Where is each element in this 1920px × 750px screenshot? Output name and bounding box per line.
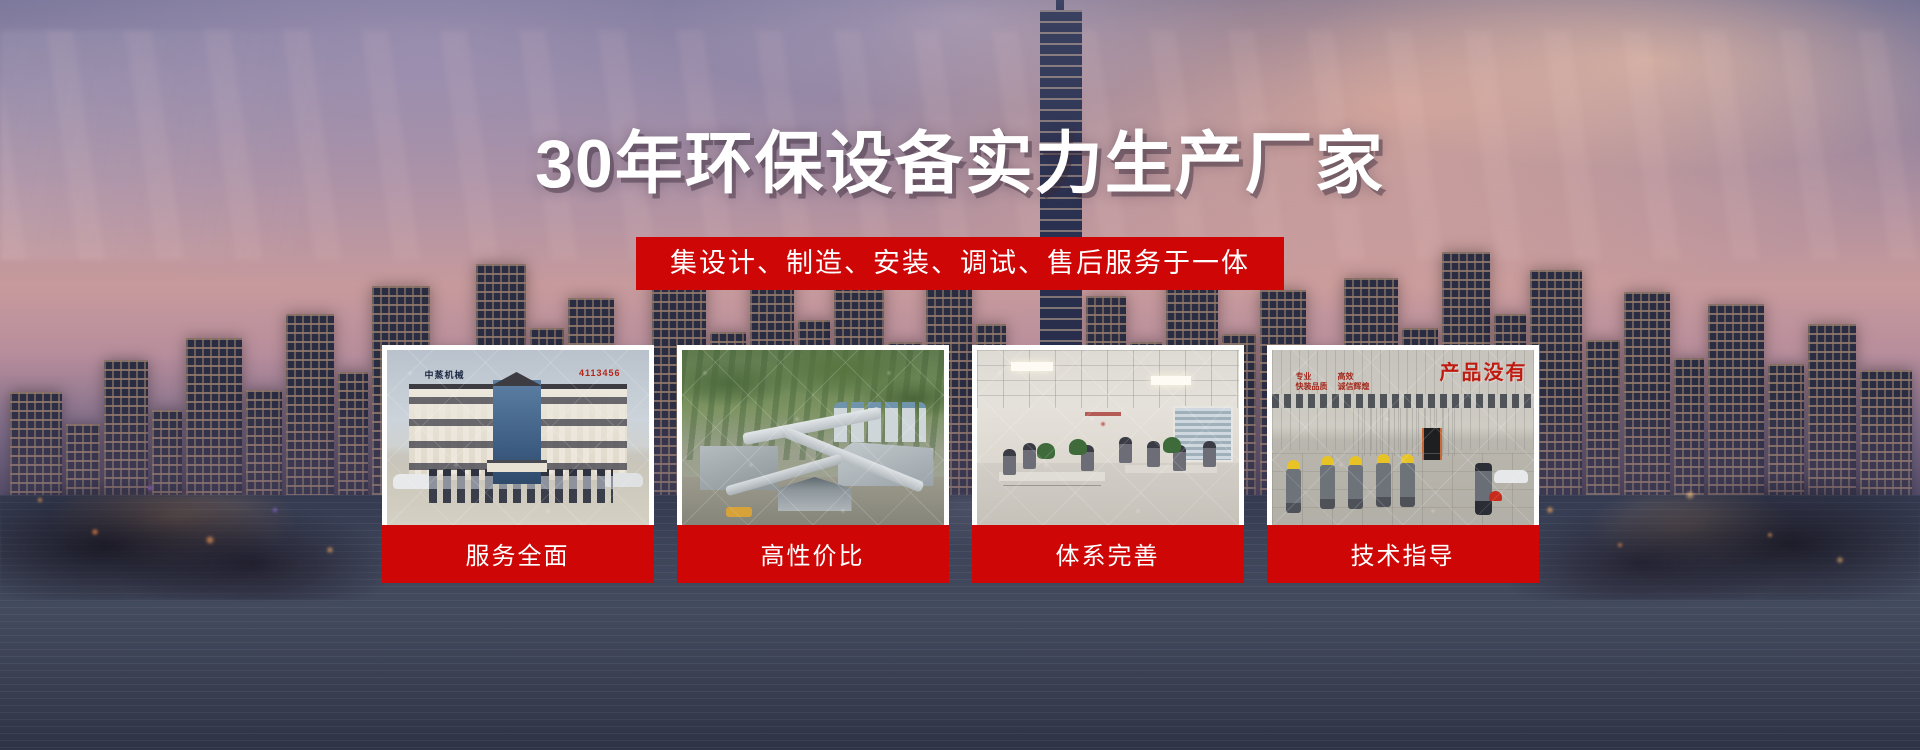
card-photo-industrial-plant [677, 345, 949, 525]
banner-headline: 30年环保设备实力生产厂家 [0, 108, 1920, 207]
card-caption: 高性价比 [677, 525, 949, 583]
card-caption: 服务全面 [382, 525, 654, 583]
card-caption: 技术指导 [1267, 525, 1539, 583]
card-photo-office-interior [972, 345, 1244, 525]
promo-banner: 30年环保设备实力生产厂家 集设计、制造、安装、调试、售后服务于一体 中蒸机械 … [0, 0, 1920, 750]
feature-card[interactable]: 高性价比 [677, 345, 949, 583]
feature-card-list: 中蒸机械 4113456 服务全面 高性价比 [0, 345, 1920, 583]
feature-card[interactable]: 体系完善 [972, 345, 1244, 583]
feature-card[interactable]: 产品没有 专业快装品质 高效诚信辉煌 技术指导 [1267, 345, 1539, 583]
card-photo-company-building: 中蒸机械 4113456 [382, 345, 654, 525]
photo-phone-text: 4113456 [579, 368, 621, 378]
tower-spire [1056, 0, 1064, 10]
subtitle-bar-wrapper: 集设计、制造、安装、调试、售后服务于一体 [0, 237, 1920, 290]
feature-card[interactable]: 中蒸机械 4113456 服务全面 [382, 345, 654, 583]
banner-subtitle: 集设计、制造、安装、调试、售后服务于一体 [636, 237, 1284, 290]
photo-sign-text: 中蒸机械 [425, 368, 465, 381]
card-photo-factory-workers: 产品没有 专业快装品质 高效诚信辉煌 [1267, 345, 1539, 525]
card-caption: 体系完善 [972, 525, 1244, 583]
